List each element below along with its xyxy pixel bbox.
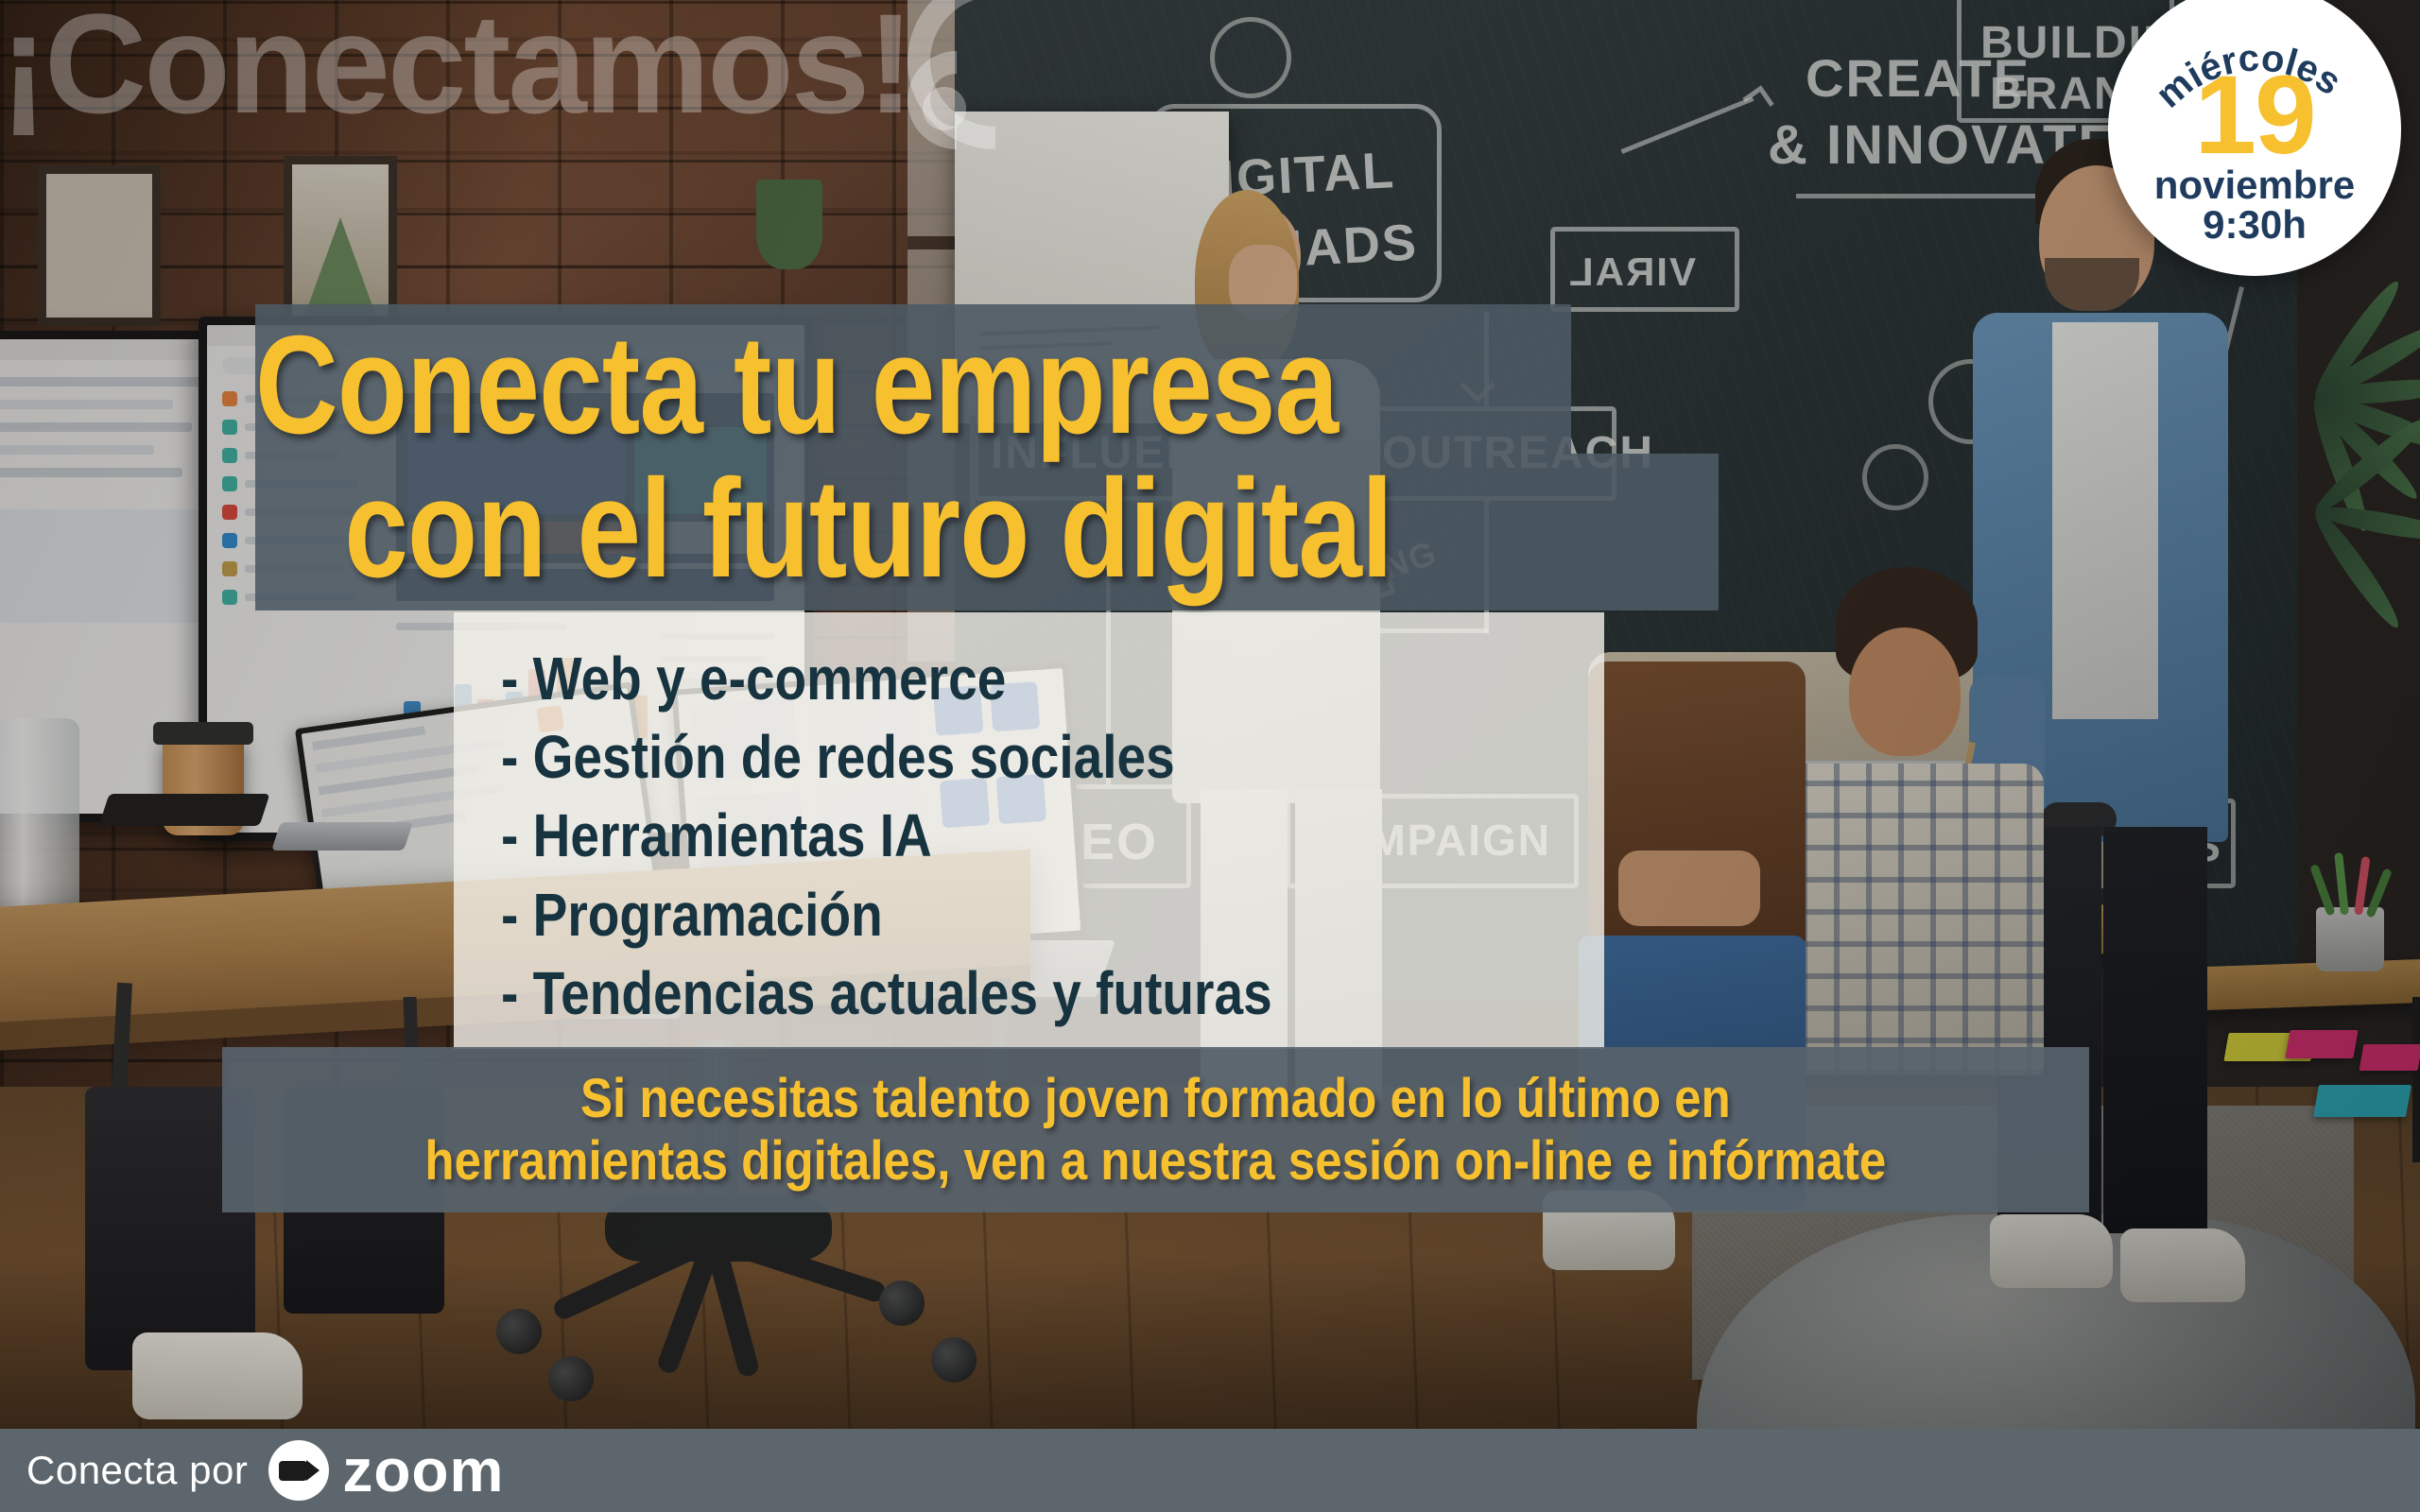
bullets-list: - Web y e-commerce - Gestión de redes so… (501, 635, 1607, 1041)
zoom-wordmark: zoom (342, 1440, 504, 1501)
badge-weekday: miércoles (2149, 37, 2349, 115)
camera-body (279, 1461, 307, 1481)
watermark-text: ¡Conectamos! (0, 0, 911, 134)
video-camera-icon (268, 1440, 329, 1501)
list-item: - Tendencias actuales y futuras (501, 963, 1452, 1024)
cta-line-1: Si necesitas talento joven formado en lo… (580, 1070, 1731, 1127)
wifi-signal-icon (921, 0, 1091, 134)
date-badge: miércoles 19 noviembre 9:30h (2108, 0, 2401, 276)
headline-line-2: con el futuro digital (344, 457, 1553, 601)
list-item: - Web y e-commerce (501, 648, 1452, 710)
zoom-logo: zoom (268, 1440, 504, 1501)
weekday-arc-svg: miércoles (2108, 0, 2401, 276)
list-item: - Gestión de redes sociales (501, 727, 1452, 788)
footer-label: Conecta por (26, 1448, 248, 1493)
footer-bar: Conecta por zoom (0, 1429, 2420, 1512)
headline: Conecta tu empresa con el futuro digital (255, 304, 1730, 610)
svg-text:miércoles: miércoles (2149, 37, 2349, 115)
headline-line-1: Conecta tu empresa (255, 314, 1464, 457)
camera-lens (306, 1460, 320, 1481)
cta-line-2: herramientas digitales, ven a nuestra se… (425, 1132, 1887, 1190)
conectamos-watermark-logo: ¡Conectamos! (0, 0, 1091, 134)
call-to-action-banner: Si necesitas talento joven formado en lo… (222, 1047, 2089, 1212)
list-item: - Programación (501, 885, 1452, 946)
list-item: - Herramientas IA (501, 805, 1452, 867)
promotional-poster: DIGITAL NOMADS CREATE & INNOVATE BUILDIN… (0, 0, 2420, 1512)
